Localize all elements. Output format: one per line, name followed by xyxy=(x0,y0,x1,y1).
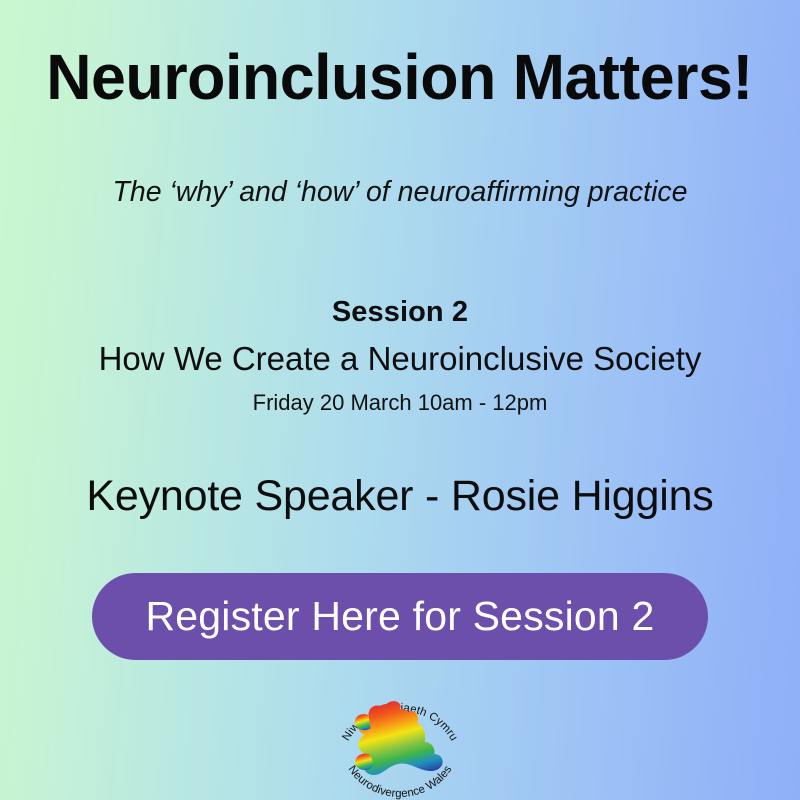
keynote-speaker: Keynote Speaker - Rosie Higgins xyxy=(86,472,713,521)
page-subtitle: The ‘why’ and ‘how’ of neuroaffirming pr… xyxy=(112,176,687,209)
session-title: How We Create a Neuroinclusive Society xyxy=(99,340,702,378)
register-button-label: Register Here for Session 2 xyxy=(145,593,654,640)
neurodivergence-wales-logo-icon: Niwrowahaniaeth Cymru Neurodivergence Wa… xyxy=(325,682,475,800)
session-datetime: Friday 20 March 10am - 12pm xyxy=(253,390,548,416)
session-details: Session 2 How We Create a Neuroinclusive… xyxy=(99,296,702,416)
session-label: Session 2 xyxy=(332,296,468,329)
organisation-logo: Niwrowahaniaeth Cymru Neurodivergence Wa… xyxy=(325,682,475,800)
poster-canvas: Neuroinclusion Matters! The ‘why’ and ‘h… xyxy=(0,0,800,800)
register-button[interactable]: Register Here for Session 2 xyxy=(92,573,708,660)
page-title: Neuroinclusion Matters! xyxy=(47,44,754,111)
